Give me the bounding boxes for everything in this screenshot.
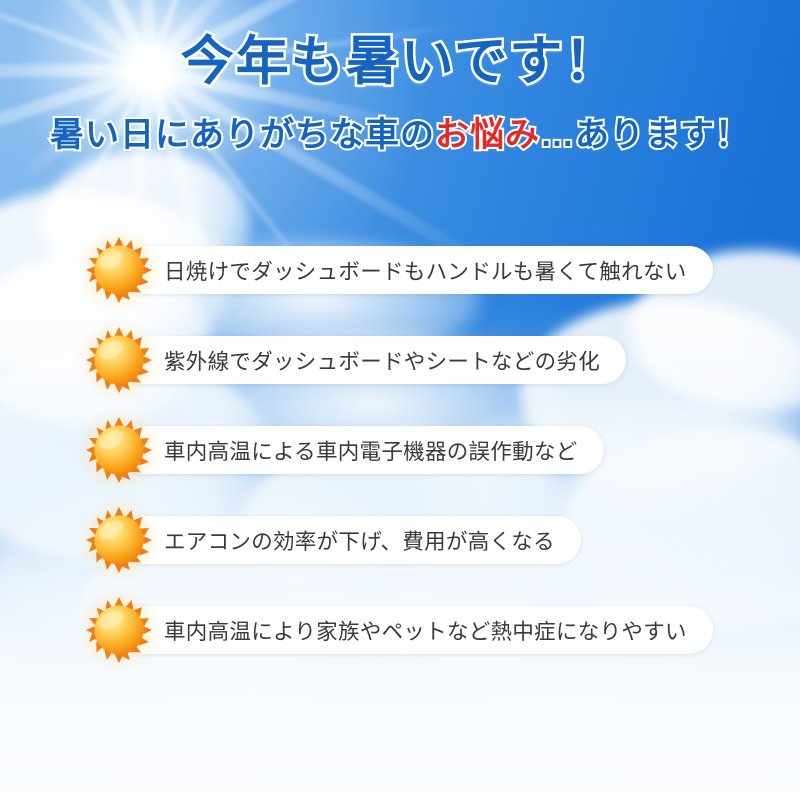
list-item: エアコンの効率が下げ、費用が高くなる: [0, 502, 800, 592]
sun-icon: [86, 597, 152, 663]
problem-label: 車内高温により家族やペットなど熱中症になりやすい: [164, 615, 687, 646]
list-item: 車内高温により家族やペットなど熱中症になりやすい: [0, 592, 800, 682]
sun-icon: [86, 507, 152, 573]
problem-pill: 車内高温による車内電子機器の誤作動など: [118, 426, 604, 474]
promo-banner: 今年も暑いです！ 暑い日にありがちな車のお悩み…あります！ 日焼けでダッシュボー…: [0, 0, 800, 800]
sun-icon: [86, 417, 152, 483]
list-item: 紫外線でダッシュボードやシートなどの劣化: [0, 322, 800, 412]
problem-label: エアコンの効率が下げ、費用が高くなる: [164, 525, 555, 556]
problem-pill: エアコンの効率が下げ、費用が高くなる: [118, 516, 581, 564]
list-item: 日焼けでダッシュボードもハンドルも暑くて触れない: [0, 232, 800, 322]
list-item: 車内高温による車内電子機器の誤作動など: [0, 412, 800, 502]
problem-pill: 車内高温により家族やペットなど熱中症になりやすい: [118, 606, 713, 654]
problem-list: 日焼けでダッシュボードもハンドルも暑くて触れない: [0, 232, 800, 682]
page-subtitle: 暑い日にありがちな車のお悩み…あります！: [50, 117, 750, 154]
subtitle-ellipsis: …: [540, 116, 575, 154]
problem-label: 紫外線でダッシュボードやシートなどの劣化: [164, 345, 600, 376]
headline-container: 今年も暑いです！: [0, 34, 800, 90]
subtitle-prefix: 暑い日にありがちな車の: [50, 116, 435, 154]
subline-container: 暑い日にありがちな車のお悩み…あります！: [0, 117, 800, 154]
problem-label: 車内高温による車内電子機器の誤作動など: [164, 435, 578, 466]
problem-pill: 紫外線でダッシュボードやシートなどの劣化: [118, 336, 626, 384]
problem-pill: 日焼けでダッシュボードもハンドルも暑くて触れない: [118, 246, 713, 294]
sun-icon: [86, 327, 152, 393]
sun-icon: [86, 237, 152, 303]
page-title: 今年も暑いです！: [181, 34, 619, 90]
subtitle-suffix: あります！: [575, 116, 750, 154]
subtitle-highlight: お悩み: [435, 116, 540, 154]
problem-label: 日焼けでダッシュボードもハンドルも暑くて触れない: [164, 255, 687, 286]
